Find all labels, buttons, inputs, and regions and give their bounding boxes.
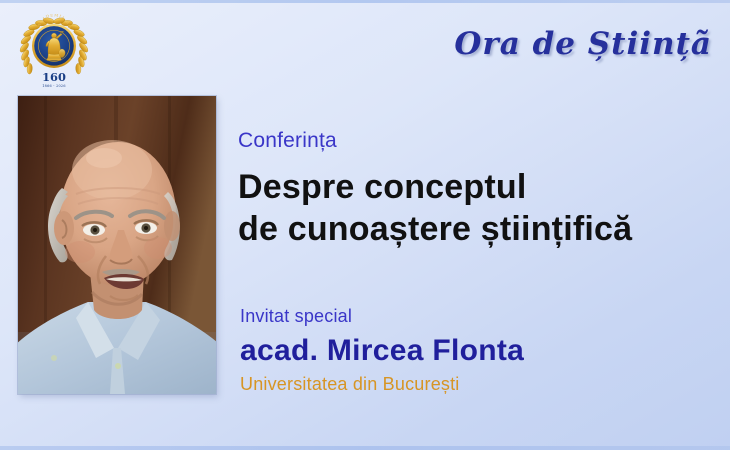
conference-title-line-1: Despre conceptul	[238, 167, 708, 208]
svg-text:160: 160	[42, 70, 66, 84]
guest-affiliation: Universitatea din București	[240, 374, 710, 395]
conference-announcement-slide: ACADEMIA ROMÂNĂ	[0, 0, 730, 450]
guest-speaker-block: Invitat special acad. Mircea Flonta Univ…	[240, 306, 710, 395]
academia-romana-seal-logo: ACADEMIA ROMÂNĂ	[16, 14, 92, 90]
program-brand-title: Ora de Științã	[454, 26, 712, 62]
svg-text:1866 - 2026: 1866 - 2026	[42, 84, 66, 88]
guest-name: acad. Mircea Flonta	[240, 334, 710, 368]
bottom-divider-rule	[0, 446, 730, 450]
conference-text-block: Conferința Despre conceptul de cunoașter…	[238, 128, 708, 250]
conference-kicker: Conferința	[238, 128, 708, 153]
guest-kicker: Invitat special	[240, 306, 710, 327]
speaker-portrait-photo	[18, 96, 216, 394]
conference-title-line-2: de cunoaștere științifică	[238, 209, 708, 250]
top-divider-rule	[0, 0, 730, 3]
